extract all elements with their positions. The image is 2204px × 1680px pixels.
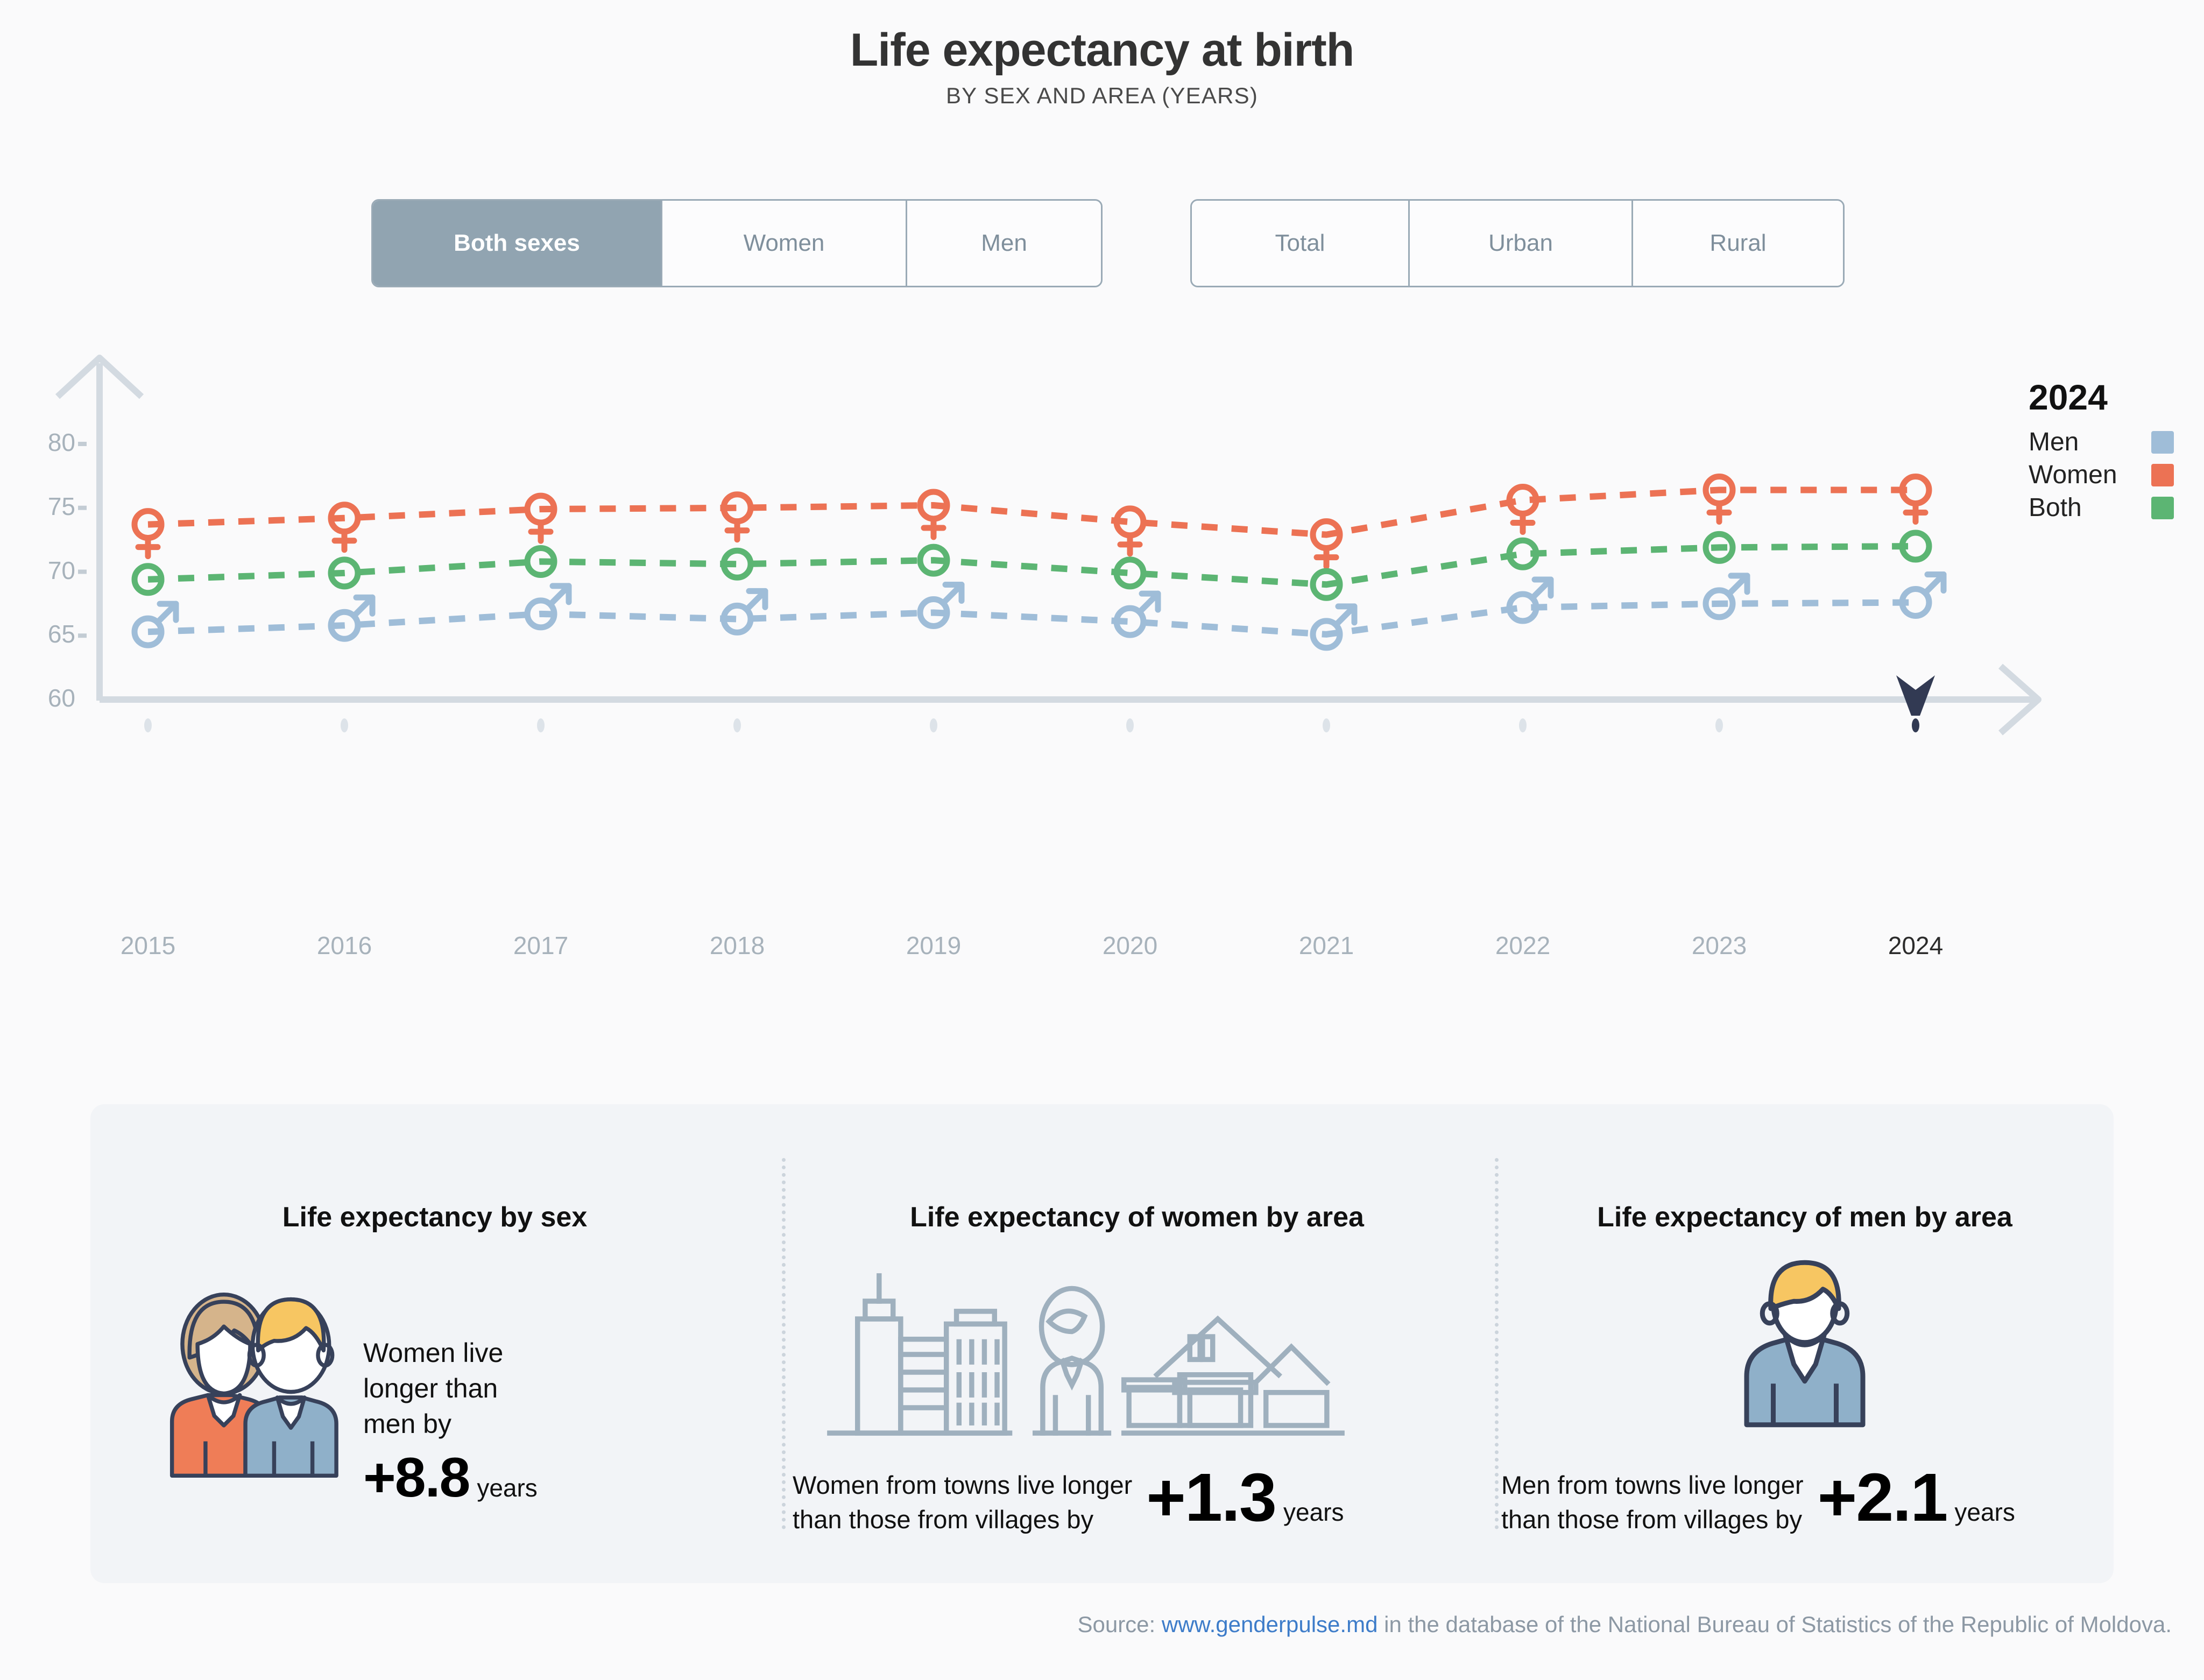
card-unit: years: [1954, 1498, 2015, 1527]
summary-card-men-by-area: Life expectancy of men by area Men from …: [1496, 1104, 2114, 1583]
line-chart: 6065707580 20152016201720182019202020212…: [0, 344, 2204, 1055]
legend-label-both: Both: [2029, 493, 2082, 523]
card-title: Life expectancy by sex: [90, 1201, 779, 1233]
page-title: Life expectancy at birth: [0, 26, 2204, 74]
sex-toggle-men[interactable]: Men: [907, 201, 1101, 286]
area-toggle-total[interactable]: Total: [1192, 201, 1410, 286]
card-title: Life expectancy of men by area: [1496, 1201, 2114, 1233]
source-link[interactable]: www.genderpulse.md: [1162, 1612, 1378, 1637]
city-woman-village-icon: [814, 1266, 1358, 1443]
legend-item-men[interactable]: Men: [2029, 427, 2174, 457]
legend-item-women[interactable]: Women: [2029, 460, 2174, 490]
y-axis-tick-65: 65: [16, 619, 75, 648]
area-toggle-rural[interactable]: Rural: [1633, 201, 1843, 286]
card-value: +8.8: [363, 1446, 469, 1510]
card-text-line: than those from villages by: [1501, 1502, 1804, 1536]
x-axis-tick-2016[interactable]: 2016: [264, 931, 425, 960]
area-toggle-urban[interactable]: Urban: [1410, 201, 1633, 286]
x-axis-tick-2023[interactable]: 2023: [1638, 931, 1800, 960]
x-axis-tick-2024[interactable]: 2024: [1835, 931, 1996, 960]
sex-toggle-women[interactable]: Women: [662, 201, 907, 286]
y-axis-tick-70: 70: [16, 556, 75, 585]
sex-toggle-group[interactable]: Both sexes Women Men: [371, 199, 1103, 287]
card-text-line: men by: [363, 1406, 538, 1442]
x-axis-tick-2015[interactable]: 2015: [67, 931, 229, 960]
legend-label-women: Women: [2029, 460, 2117, 490]
card-unit: years: [477, 1473, 537, 1502]
summary-panel: Life expectancy by sex: [90, 1104, 2114, 1583]
card-value: +1.3: [1146, 1458, 1276, 1536]
legend-year: 2024: [2029, 377, 2190, 418]
y-axis-tick-80: 80: [16, 428, 75, 457]
source-footer: Source: www.genderpulse.md in the databa…: [1077, 1612, 2172, 1637]
infographic-page: Life expectancy at birth BY SEX AND AREA…: [0, 0, 2204, 1680]
card-title: Life expectancy of women by area: [782, 1201, 1492, 1233]
x-axis-tick-2018[interactable]: 2018: [656, 931, 818, 960]
source-suffix: in the database of the National Bureau o…: [1384, 1612, 2172, 1637]
summary-card-by-sex: Life expectancy by sex: [90, 1104, 779, 1583]
chart-legend: 2024 Men Women Both: [2029, 377, 2190, 526]
legend-swatch-women: [2151, 464, 2174, 486]
x-axis-tick-2020[interactable]: 2020: [1049, 931, 1211, 960]
card-text-line: Women from towns live longer: [793, 1468, 1132, 1502]
x-axis-tick-2021[interactable]: 2021: [1246, 931, 1407, 960]
man-icon: [1732, 1255, 1877, 1432]
x-axis-tick-2017[interactable]: 2017: [460, 931, 621, 960]
page-subtitle: BY SEX AND AREA (YEARS): [0, 83, 2204, 109]
card-text-line: longer than: [363, 1371, 538, 1406]
legend-item-both[interactable]: Both: [2029, 493, 2174, 523]
couple-icon: [155, 1282, 341, 1513]
area-toggle-group[interactable]: Total Urban Rural: [1190, 199, 1845, 287]
summary-card-women-by-area: Life expectancy of women by area: [782, 1104, 1492, 1583]
legend-swatch-both: [2151, 497, 2174, 519]
card-value: +2.1: [1818, 1458, 1947, 1536]
source-prefix: Source:: [1077, 1612, 1155, 1637]
card-text-line: than those from villages by: [793, 1502, 1132, 1536]
sex-toggle-both[interactable]: Both sexes: [373, 201, 662, 286]
x-axis-tick-2019[interactable]: 2019: [853, 931, 1014, 960]
card-unit: years: [1283, 1498, 1344, 1527]
y-axis-tick-75: 75: [16, 492, 75, 521]
card-text-line: Men from towns live longer: [1501, 1468, 1804, 1502]
legend-label-men: Men: [2029, 427, 2079, 457]
y-axis-tick-60: 60: [16, 683, 75, 712]
filter-toolbar: Both sexes Women Men Total Urban Rural: [0, 199, 2204, 291]
header: Life expectancy at birth BY SEX AND AREA…: [0, 26, 2204, 109]
card-text-line: Women live: [363, 1335, 538, 1371]
x-axis-tick-2022[interactable]: 2022: [1442, 931, 1603, 960]
legend-swatch-men: [2151, 431, 2174, 454]
